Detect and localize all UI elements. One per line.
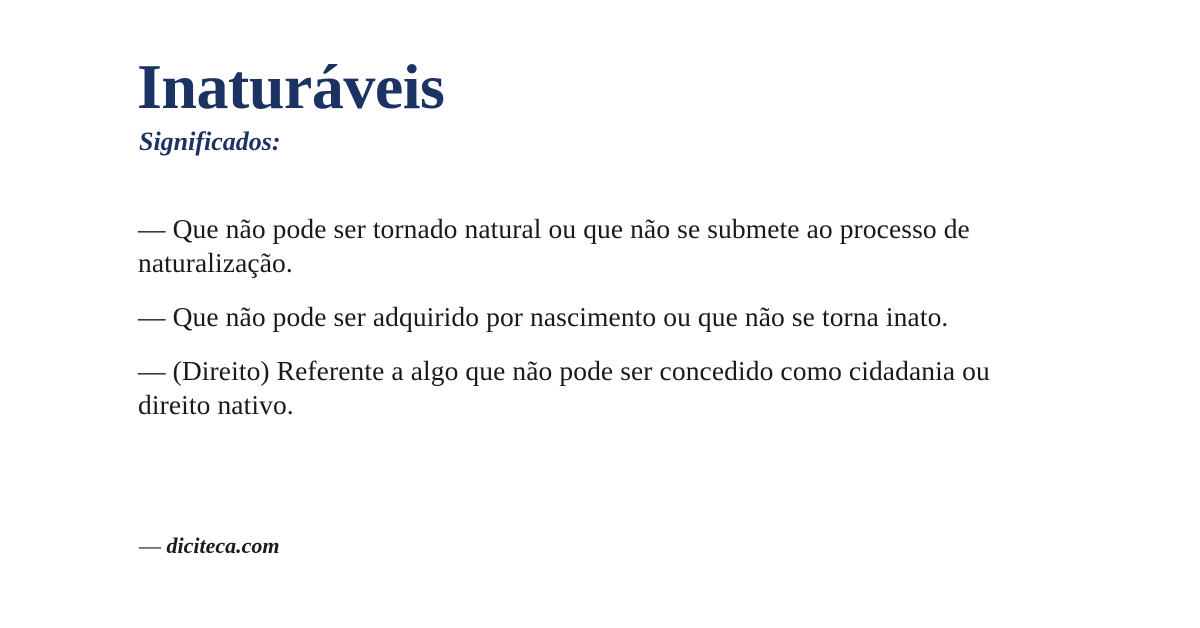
meanings-label: Significados: [139,129,281,155]
definition-item: — (Direito) Referente a algo que não pod… [138,354,1068,422]
source-attribution: — diciteca.com [139,535,280,557]
definition-text: Que não pode ser tornado natural ou que … [138,213,970,278]
definition-text: Que não pode ser adquirido por nasciment… [173,301,949,332]
source-name: diciteca.com [167,533,280,558]
definitions-list: — Que não pode ser tornado natural ou qu… [138,212,1068,422]
page-title: Inaturáveis [137,55,444,119]
definition-item: — Que não pode ser tornado natural ou qu… [138,212,1068,280]
dictionary-card: Inaturáveis Significados: — Que não pode… [0,0,1200,628]
em-dash-icon: — [138,213,173,244]
em-dash-icon: — [139,533,167,558]
em-dash-icon: — [138,355,173,386]
definition-item: — Que não pode ser adquirido por nascime… [138,300,1068,334]
definition-text: (Direito) Referente a algo que não pode … [138,355,990,420]
em-dash-icon: — [138,301,173,332]
